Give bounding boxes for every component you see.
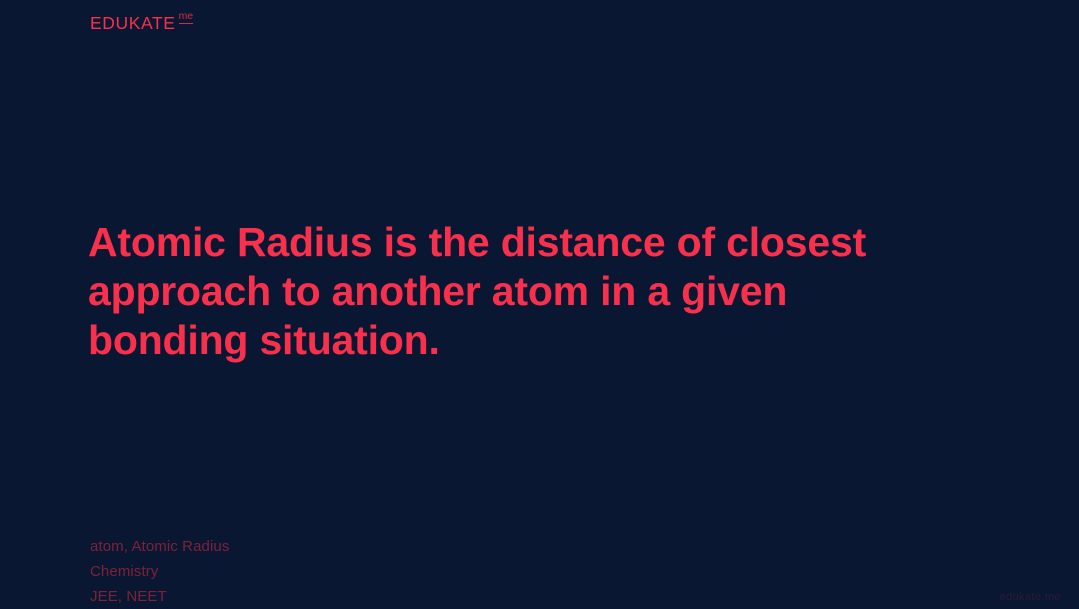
slide-metadata: atom, Atomic Radius Chemistry JEE, NEET — [90, 534, 229, 609]
metadata-exams: JEE, NEET — [90, 584, 229, 609]
watermark: edukate.me — [1000, 591, 1061, 603]
metadata-tags: atom, Atomic Radius — [90, 534, 229, 559]
page-title-line-3: bonding situation. — [88, 316, 968, 365]
page-title-line-2: approach to another atom in a given — [88, 267, 968, 316]
slide-canvas: EDUKATE me Atomic Radius is the distance… — [0, 0, 1079, 607]
metadata-subject: Chemistry — [90, 559, 229, 584]
page-title: Atomic Radius is the distance of closest… — [88, 218, 968, 365]
page-title-line-1: Atomic Radius is the distance of closest — [88, 218, 968, 267]
brand-logo-suffix: me — [179, 11, 194, 24]
brand-logo[interactable]: EDUKATE me — [90, 15, 193, 33]
brand-logo-word: EDUKATE — [90, 15, 176, 33]
